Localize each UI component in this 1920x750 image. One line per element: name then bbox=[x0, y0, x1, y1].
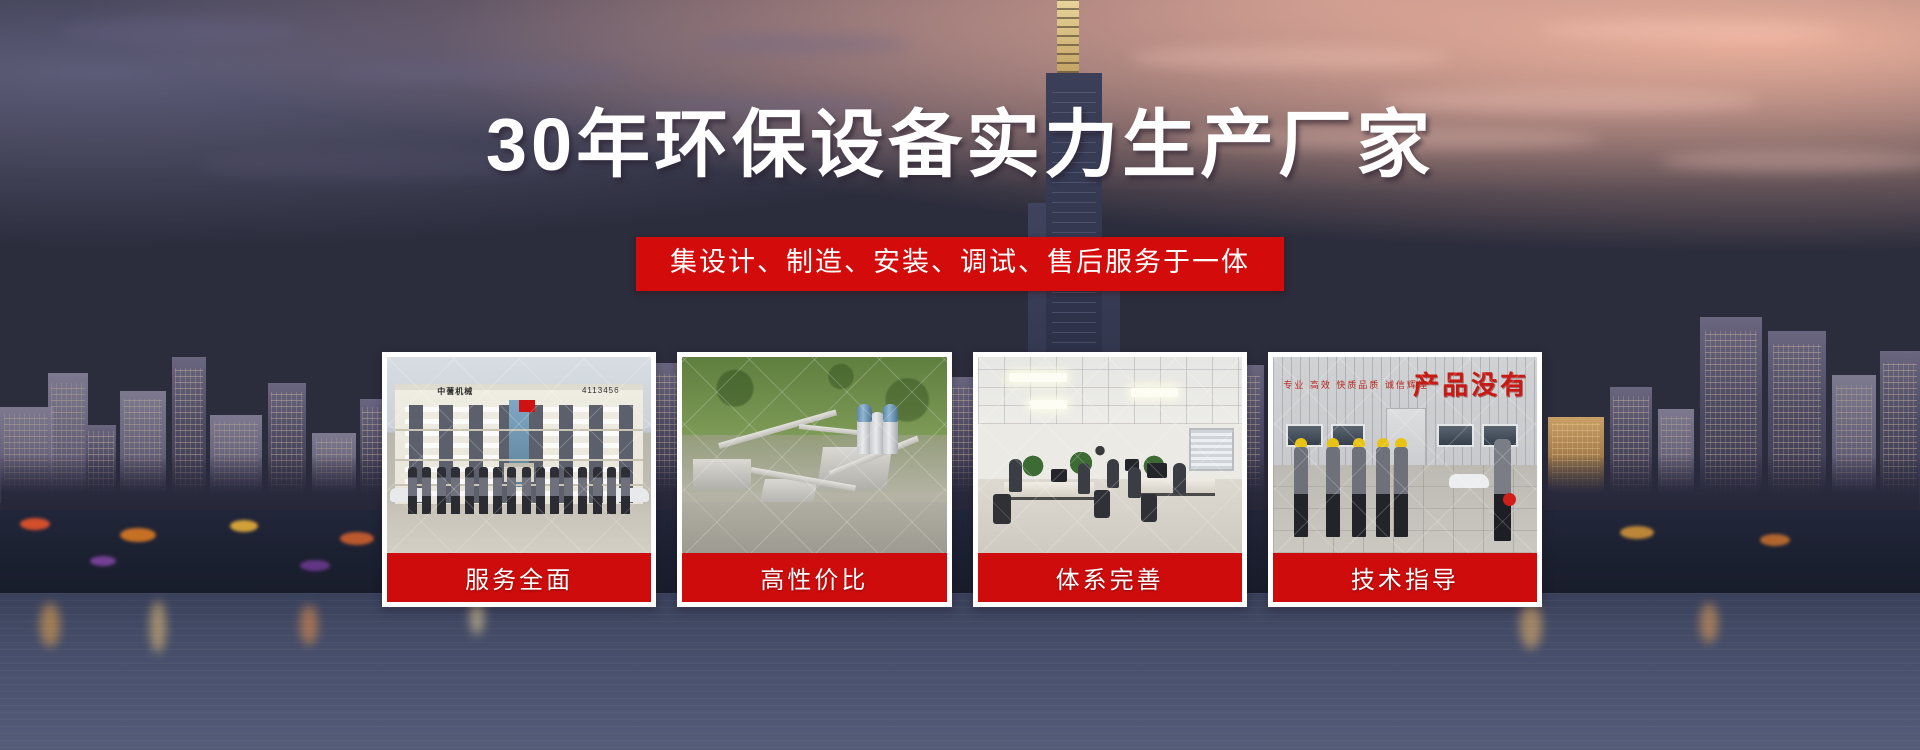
page-title: 30年环保设备实力生产厂家 bbox=[0, 108, 1920, 182]
factory-workers-training-photo: 产品没有 专业 高效 快质品质 诚信辉煌 bbox=[1273, 357, 1537, 553]
card-caption: 技术指导 bbox=[1273, 553, 1537, 602]
card-caption: 高性价比 bbox=[682, 553, 946, 602]
photo-phone-number: 4113456 bbox=[582, 386, 620, 395]
subtitle-banner: 集设计、制造、安装、调试、售后服务于一体 bbox=[636, 237, 1284, 291]
feature-card[interactable]: 体系完善 bbox=[973, 352, 1247, 607]
river-water bbox=[0, 593, 1920, 750]
feature-card[interactable]: 中蓍机械 4113456 服务全面 bbox=[382, 352, 656, 607]
aerial-industrial-plant-photo bbox=[682, 357, 946, 553]
factory-wall-subtext: 专业 高效 快质品质 诚信辉煌 bbox=[1283, 379, 1429, 393]
photo-company-name: 中蓍机械 bbox=[437, 386, 473, 397]
office-interior-staff-photo bbox=[978, 357, 1242, 553]
tower-crown bbox=[1057, 0, 1079, 73]
card-caption: 体系完善 bbox=[978, 553, 1242, 602]
factory-wall-slogan: 产品没有 bbox=[1413, 365, 1529, 402]
company-office-building-photo: 中蓍机械 4113456 bbox=[387, 357, 651, 553]
card-caption: 服务全面 bbox=[387, 553, 651, 602]
hero-banner: 30年环保设备实力生产厂家 集设计、制造、安装、调试、售后服务于一体 中蓍机械 … bbox=[0, 0, 1920, 750]
feature-card-list: 中蓍机械 4113456 服务全面 bbox=[382, 352, 1542, 607]
feature-card[interactable]: 高性价比 bbox=[677, 352, 951, 607]
feature-card[interactable]: 产品没有 专业 高效 快质品质 诚信辉煌 技术指导 bbox=[1268, 352, 1542, 607]
